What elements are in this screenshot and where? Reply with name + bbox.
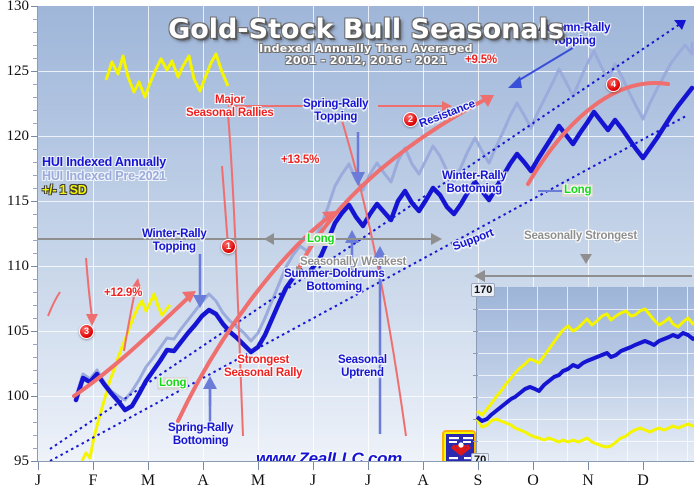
x-tick [368, 462, 369, 470]
summer-bottom-arrowhead1 [345, 230, 359, 243]
y-axis-label-95: 95 [0, 453, 29, 470]
chart-subtitle-2: 2001 - 2012, 2016 - 2021 [38, 54, 694, 67]
spring-rally-bottoming-line2: Bottoming [168, 435, 233, 448]
x-axis-label-dec: D [634, 472, 652, 490]
chart-canvas: 3 1 2 4 +12.9% +13.5% +9.5% Major Season… [0, 0, 700, 500]
x-tick [203, 462, 204, 470]
callout-summer-doldrums-bottoming: Summer-Doldrums Bottoming [284, 268, 385, 293]
y-tick-minor [33, 357, 38, 358]
x-axis-label-jun: J [304, 472, 322, 490]
x-axis-label-sep: S [469, 472, 487, 490]
y-axis-label-100: 100 [0, 388, 29, 405]
main-plot-area: 3 1 2 4 +12.9% +13.5% +9.5% Major Season… [38, 6, 694, 461]
y-tick-minor [33, 292, 38, 293]
summer-doldrums-line2: Bottoming [284, 281, 385, 294]
y-axis-label-120: 120 [0, 128, 29, 145]
x-axis-label-may: M [249, 472, 267, 490]
legend-item-sd-band: +/- 1 SD [42, 183, 166, 197]
y-tick-major [31, 396, 38, 397]
website-watermark[interactable]: www.ZealLLC.com [256, 449, 402, 461]
x-tick [588, 462, 589, 470]
inset-chart: 170 70 [476, 287, 694, 461]
signal-long-3: Long [562, 184, 593, 197]
y-axis-label-115: 115 [0, 193, 29, 210]
y-tick-minor [33, 448, 38, 449]
y-tick-major [31, 461, 38, 462]
y-tick-major [31, 6, 38, 7]
y-axis-label-110: 110 [0, 258, 29, 275]
winter-rally-bottoming-line2: Bottoming [442, 183, 507, 196]
y-axis-label-125: 125 [0, 63, 29, 80]
y-tick-minor [33, 227, 38, 228]
weakest-span-arrow-right [431, 233, 442, 245]
x-tick [478, 462, 479, 470]
y-tick-minor [33, 318, 38, 319]
callout-major-seasonal-rallies: Major Seasonal Rallies [186, 94, 274, 119]
callout-strongest-seasonal-rally: Strongest Seasonal Rally [224, 354, 302, 379]
winter-rally-bottoming-line1: Winter-Rally [442, 170, 507, 183]
y-tick-major [31, 331, 38, 332]
y-tick-minor [33, 344, 38, 345]
rally-pointer-e [86, 258, 92, 318]
major-seasonal-rallies-line1: Major [186, 94, 274, 107]
x-tick [313, 462, 314, 470]
strongest-seasonal-rally-line2: Seasonal Rally [224, 367, 302, 380]
x-axis-label-nov: N [579, 472, 597, 490]
chart-title: Gold-Stock Bull Seasonals [38, 14, 694, 45]
callout-spring-rally-topping: Spring-Rally Topping [303, 98, 368, 123]
x-axis-label-feb: F [84, 472, 102, 490]
winter-topping-arrowhead [193, 295, 207, 308]
x-axis [37, 461, 694, 462]
spring-rally-topping-line1: Spring-Rally [303, 98, 368, 111]
y-tick-minor [33, 97, 38, 98]
y-tick-minor [33, 32, 38, 33]
y-tick-minor [33, 422, 38, 423]
y-tick-minor [33, 84, 38, 85]
y-tick-minor [33, 19, 38, 20]
legend: HUI Indexed Annually HUI Indexed Pre-202… [42, 155, 166, 197]
y-tick-minor [33, 435, 38, 436]
y-tick-minor [33, 214, 38, 215]
y-tick-minor [33, 175, 38, 176]
y-tick-major [31, 266, 38, 267]
y-tick-minor [33, 305, 38, 306]
x-axis-label-aug: A [414, 472, 432, 490]
winter-rally-topping-line2: Topping [142, 241, 207, 254]
rally-pointer-a [228, 114, 243, 436]
summer-doldrums-line1: Summer-Doldrums [284, 268, 385, 281]
strongest-span-arrow-left [474, 270, 485, 282]
autumn-topping-arrowhead [508, 76, 522, 88]
y-tick-minor [33, 409, 38, 410]
y-tick-major [31, 136, 38, 137]
x-tick [423, 462, 424, 470]
x-axis-label-apr: A [194, 472, 212, 490]
major-seasonal-rallies-line2: Seasonal Rallies [186, 107, 274, 120]
rally-marker-2: 2 [403, 112, 418, 127]
rally-pointer-d [48, 292, 60, 316]
signal-long-2: Long [305, 233, 336, 246]
gain-label-12-9: +12.9% [104, 287, 142, 300]
legend-item-hui-pre2021: HUI Indexed Pre-2021 [42, 169, 166, 183]
spring-rally-bottoming-line1: Spring-Rally [168, 422, 233, 435]
y-tick-minor [33, 253, 38, 254]
inset-sd-lower-line [477, 419, 694, 447]
gain-label-13-5: +13.5% [281, 154, 319, 167]
y-tick-major [31, 71, 38, 72]
y-tick-minor [33, 383, 38, 384]
y-axis-label-130: 130 [0, 0, 29, 15]
rally-marker-4: 4 [606, 77, 621, 92]
y-tick-minor [33, 162, 38, 163]
spring-rally-topping-line2: Topping [303, 111, 368, 124]
y-axis [37, 6, 38, 462]
seasonal-uptrend-line1: Seasonal [338, 354, 387, 367]
legend-item-hui-annual: HUI Indexed Annually [42, 155, 166, 169]
label-seasonally-strongest: Seasonally Strongest [524, 230, 637, 243]
y-tick-minor [33, 188, 38, 189]
callout-spring-rally-bottoming: Spring-Rally Bottoming [168, 422, 233, 447]
y-tick-minor [33, 45, 38, 46]
inset-hui-annual-line [477, 327, 694, 421]
x-tick [38, 462, 39, 470]
y-tick-minor [33, 279, 38, 280]
x-tick [148, 462, 149, 470]
callout-winter-rally-topping: Winter-Rally Topping [142, 228, 207, 253]
strongest-seasonal-rally-line1: Strongest [224, 354, 302, 367]
x-axis-label-oct: O [524, 472, 542, 490]
inset-series-layer [477, 287, 694, 461]
y-tick-minor [33, 149, 38, 150]
x-tick [533, 462, 534, 470]
y-tick-minor [33, 370, 38, 371]
y-tick-minor [33, 240, 38, 241]
winter-rally-topping-line1: Winter-Rally [142, 228, 207, 241]
seasonal-uptrend-line2: Uptrend [338, 367, 387, 380]
weakest-span-arrow-left [264, 233, 274, 245]
callout-seasonal-uptrend: Seasonal Uptrend [338, 354, 387, 379]
x-tick [258, 462, 259, 470]
rally-marker-1: 1 [221, 239, 236, 254]
y-tick-minor [33, 110, 38, 111]
label-seasonally-weakest: Seasonally Weakest [300, 256, 406, 269]
y-tick-major [31, 201, 38, 202]
rally-marker-3a: 3 [79, 324, 94, 339]
x-tick [643, 462, 644, 470]
rally-arc-4 [528, 83, 668, 184]
y-tick-minor [33, 58, 38, 59]
x-tick [93, 462, 94, 470]
x-axis-label-jul: J [359, 472, 377, 490]
weakest-span-tick [580, 254, 592, 264]
signal-long-1: Long [157, 377, 188, 390]
y-axis-label-105: 105 [0, 323, 29, 340]
rally-pointer-c [222, 166, 228, 246]
x-axis-label-mar: M [139, 472, 157, 490]
x-axis-label-jan: J [29, 472, 47, 490]
callout-winter-rally-bottoming: Winter-Rally Bottoming [442, 170, 507, 195]
y-tick-minor [33, 123, 38, 124]
